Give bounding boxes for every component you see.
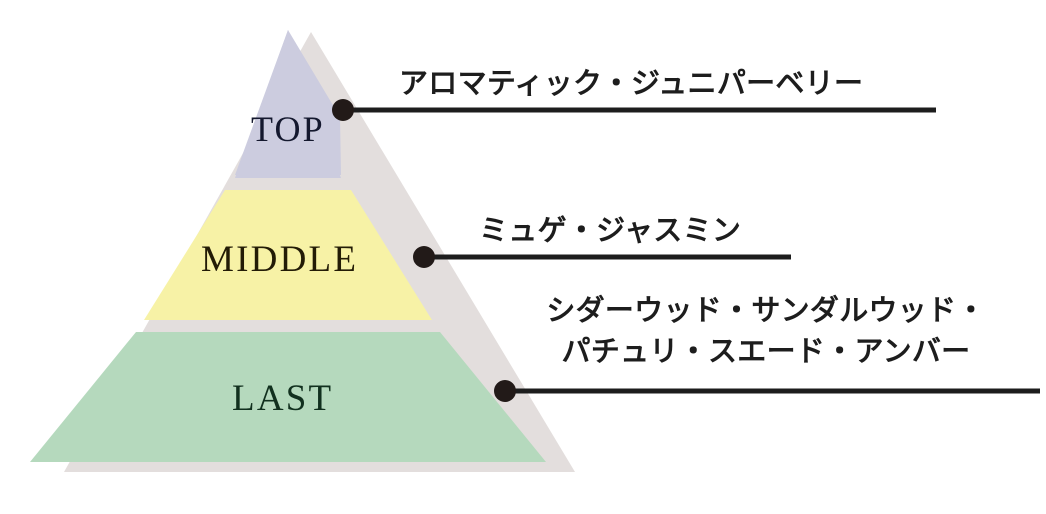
notes-text-last-line1: シダーウッド・サンダルウッド・ xyxy=(526,291,1006,332)
leader-dot-middle xyxy=(413,246,435,268)
notes-text-middle: ミュゲ・ジャスミン xyxy=(479,207,741,249)
notes-text-last-line2: パチュリ・スエード・アンバー xyxy=(526,332,1006,373)
fragrance-pyramid-diagram: TOP MIDDLE LAST アロマティック・ジュニパーベリー ミュゲ・ジャス… xyxy=(0,0,1046,514)
tier-label-middle: MIDDLE xyxy=(201,241,358,278)
notes-text-last: シダーウッド・サンダルウッド・ パチュリ・スエード・アンバー xyxy=(526,291,1006,373)
tier-label-last: LAST xyxy=(232,380,333,417)
tier-label-top: TOP xyxy=(251,111,325,147)
notes-text-top: アロマティック・ジュニパーベリー xyxy=(399,60,863,102)
leader-dot-top xyxy=(332,99,354,121)
leader-dot-last xyxy=(494,380,516,402)
